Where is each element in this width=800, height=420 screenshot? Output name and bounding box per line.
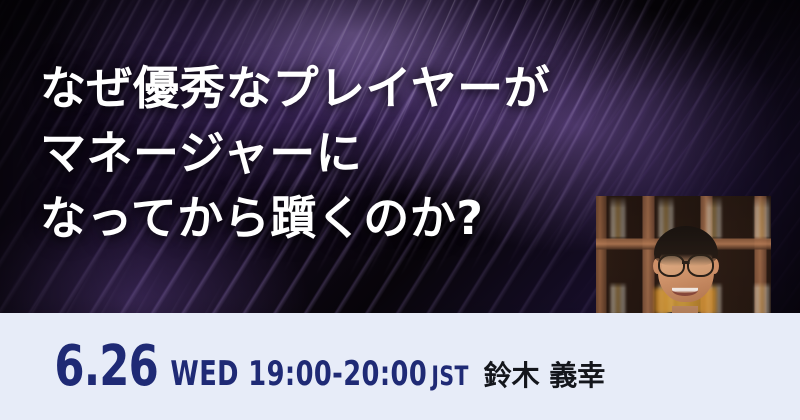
speaker-name: 鈴木 義幸 xyxy=(484,362,606,390)
headline: なぜ優秀なプレイヤーが マネージャーに なってから躓くのか? xyxy=(40,56,550,251)
event-timezone: JST xyxy=(432,361,469,392)
event-info-row: 6.26 WED 19:00-20:00JST 鈴木 義幸 xyxy=(0,339,605,395)
headline-line-2: マネージャーに xyxy=(40,121,550,186)
event-time: WED 19:00-20:00JST xyxy=(171,357,469,391)
headline-line-3: なってから躓くのか? xyxy=(40,186,550,251)
event-info-bar: 6.26 WED 19:00-20:00JST 鈴木 義幸 xyxy=(0,313,800,420)
event-date: 6.26 xyxy=(54,339,157,395)
seminar-banner: なぜ優秀なプレイヤーが マネージャーに なってから躓くのか? xyxy=(0,0,800,420)
event-time-value: WED 19:00-20:00 xyxy=(171,354,428,394)
headline-line-1: なぜ優秀なプレイヤーが xyxy=(40,56,550,121)
